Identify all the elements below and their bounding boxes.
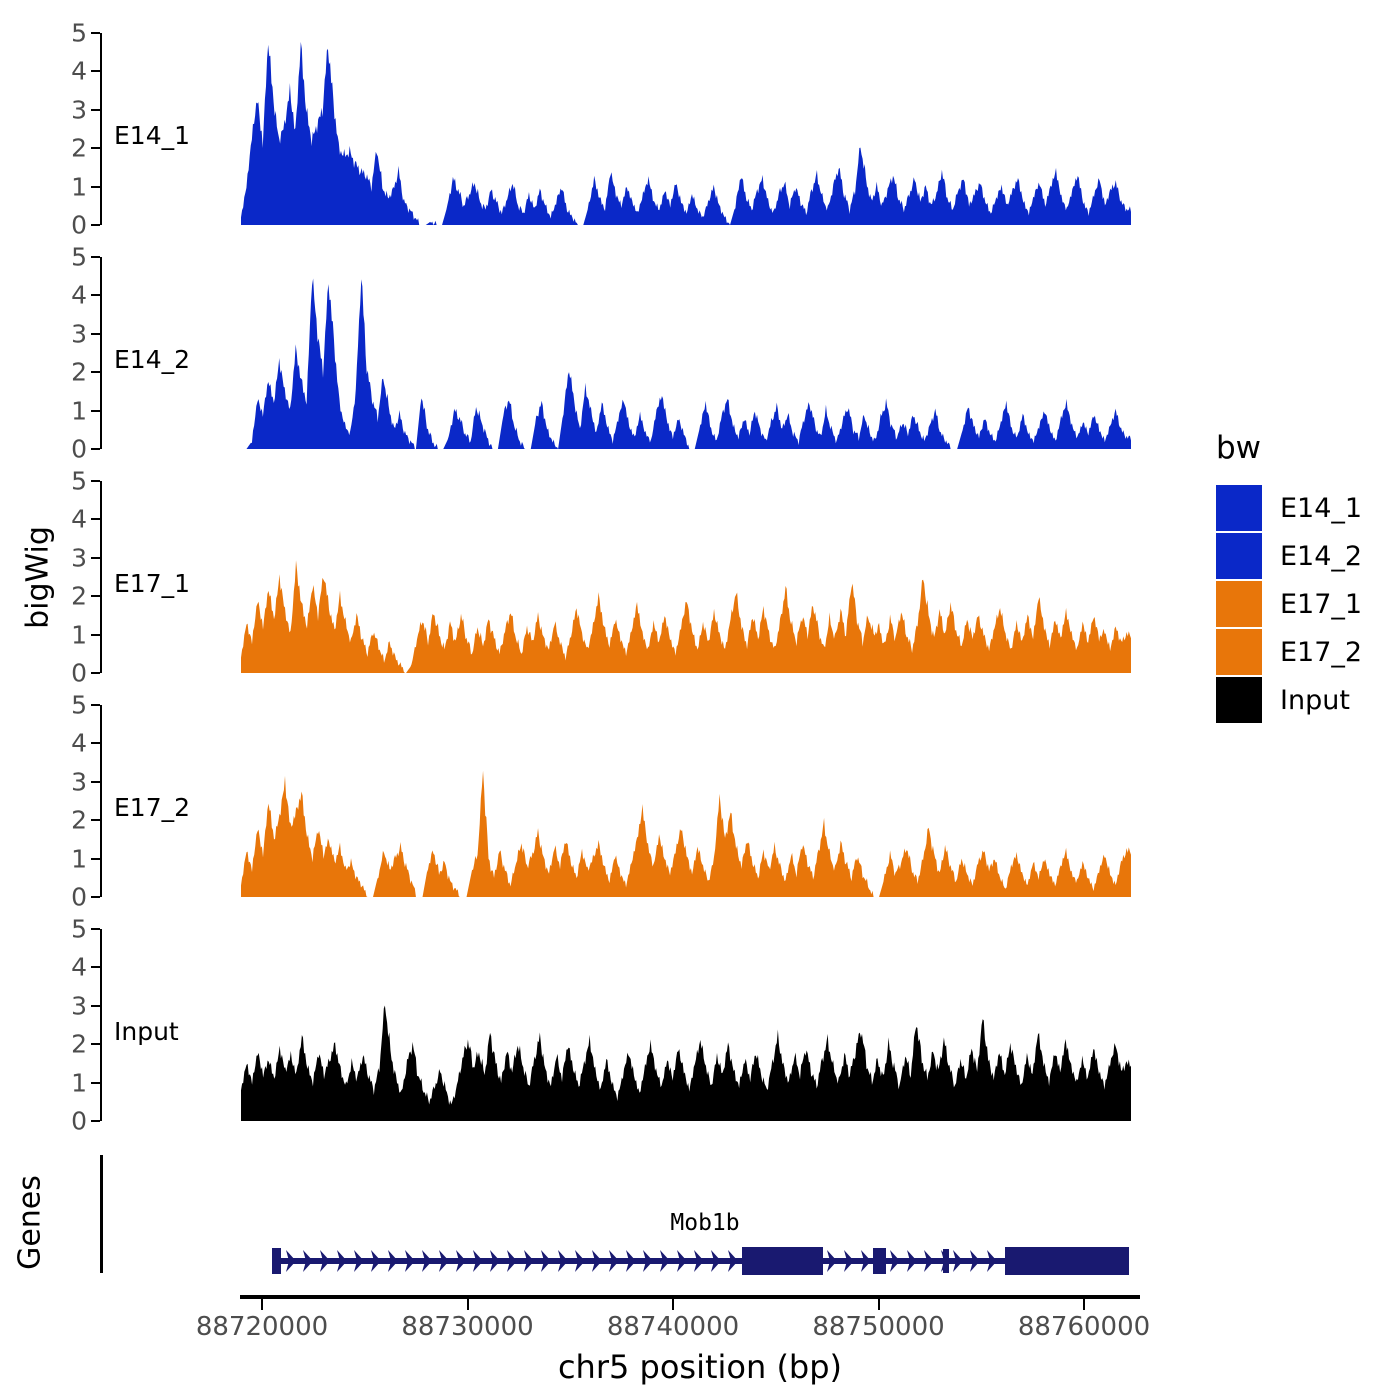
- x-axis-title: chr5 position (bp): [0, 1348, 1400, 1386]
- legend-label: E14_1: [1280, 493, 1362, 524]
- gene-label: Mob1b: [670, 1210, 739, 1236]
- y-tick: [91, 819, 100, 821]
- x-axis-line: [240, 1295, 1140, 1299]
- y-tick: [91, 480, 100, 482]
- legend-title: bw: [1216, 430, 1362, 466]
- y-tick-label: 4: [71, 507, 87, 532]
- y-tick: [91, 410, 100, 412]
- legend-item-e14_1[interactable]: E14_1: [1216, 484, 1362, 532]
- legend-item-input[interactable]: Input: [1216, 676, 1362, 724]
- legend-item-e17_1[interactable]: E17_1: [1216, 580, 1362, 628]
- y-tick: [91, 634, 100, 636]
- y-tick: [91, 224, 100, 226]
- y-tick: [91, 147, 100, 149]
- track-panel-e17_2: 012345E17_2: [100, 705, 1138, 897]
- y-tick: [91, 557, 100, 559]
- y-tick-label: 5: [71, 245, 87, 270]
- y-tick-label: 4: [71, 59, 87, 84]
- y-tick-label: 3: [71, 545, 87, 570]
- y-tick-label: 4: [71, 955, 87, 980]
- genes-axis-title: Genes: [13, 1133, 48, 1313]
- x-tick-label: 88740000: [607, 1312, 739, 1342]
- x-tick: [261, 1299, 263, 1310]
- y-tick-label: 0: [71, 885, 87, 910]
- y-tick: [91, 333, 100, 335]
- legend-items: E14_1E14_2E17_1E17_2Input: [1216, 484, 1362, 724]
- legend-swatch: [1216, 485, 1262, 531]
- y-tick: [91, 781, 100, 783]
- track-plot-area[interactable]: [102, 257, 1138, 449]
- track-panel-e17_1: 012345E17_1: [100, 481, 1138, 673]
- y-tick: [91, 1043, 100, 1045]
- y-tick-label: 5: [71, 21, 87, 46]
- legend-label: Input: [1280, 685, 1350, 716]
- legend-swatch: [1216, 533, 1262, 579]
- track-panel-input: 012345Input: [100, 929, 1138, 1121]
- y-tick: [91, 896, 100, 898]
- y-tick-label: 5: [71, 469, 87, 494]
- y-tick-label: 3: [71, 769, 87, 794]
- y-tick-label: 2: [71, 808, 87, 833]
- y-tick: [91, 448, 100, 450]
- x-tick-label: 88720000: [196, 1312, 328, 1342]
- y-tick: [91, 704, 100, 706]
- y-tick-label: 1: [71, 846, 87, 871]
- x-tick-label: 88730000: [401, 1312, 533, 1342]
- y-tick: [91, 858, 100, 860]
- track-panel-e14_2: 012345E14_2: [100, 257, 1138, 449]
- y-tick-label: 5: [71, 693, 87, 718]
- y-tick: [91, 1005, 100, 1007]
- legend-swatch: [1216, 581, 1262, 627]
- legend-label: E17_1: [1280, 589, 1362, 620]
- y-tick: [91, 294, 100, 296]
- genome-browser-figure: bigWig Genes 012345E14_1012345E14_201234…: [0, 0, 1400, 1400]
- x-tick: [1083, 1299, 1085, 1310]
- legend-swatch: [1216, 629, 1262, 675]
- genes-axis-line: [100, 1155, 103, 1273]
- y-tick: [91, 966, 100, 968]
- track-panel-e14_1: 012345E14_1: [100, 33, 1138, 225]
- y-tick-label: 5: [71, 917, 87, 942]
- track-plot-area[interactable]: [102, 33, 1138, 225]
- y-axis-title: bigWig: [21, 478, 56, 678]
- y-tick-label: 2: [71, 136, 87, 161]
- y-tick-label: 2: [71, 360, 87, 385]
- gene-model[interactable]: [100, 1155, 1138, 1295]
- track-plot-area[interactable]: [102, 481, 1138, 673]
- y-tick-label: 3: [71, 993, 87, 1018]
- x-tick-label: 88750000: [812, 1312, 944, 1342]
- x-tick: [672, 1299, 674, 1310]
- legend-swatch: [1216, 677, 1262, 723]
- y-tick: [91, 1120, 100, 1122]
- y-tick-label: 1: [71, 398, 87, 423]
- x-tick: [467, 1299, 469, 1310]
- legend: bw E14_1E14_2E17_1E17_2Input: [1216, 430, 1362, 724]
- y-tick-label: 4: [71, 283, 87, 308]
- y-tick: [91, 672, 100, 674]
- y-tick-label: 4: [71, 731, 87, 756]
- legend-item-e17_2[interactable]: E17_2: [1216, 628, 1362, 676]
- legend-label: E17_2: [1280, 637, 1362, 668]
- y-tick: [91, 518, 100, 520]
- y-tick-label: 3: [71, 97, 87, 122]
- legend-item-e14_2[interactable]: E14_2: [1216, 532, 1362, 580]
- y-tick-label: 0: [71, 661, 87, 686]
- legend-label: E14_2: [1280, 541, 1362, 572]
- y-tick-label: 3: [71, 321, 87, 346]
- y-tick: [91, 256, 100, 258]
- x-tick-label: 88760000: [1018, 1312, 1150, 1342]
- y-tick: [91, 371, 100, 373]
- y-tick-label: 0: [71, 1109, 87, 1134]
- x-tick: [878, 1299, 880, 1310]
- y-tick: [91, 186, 100, 188]
- track-plot-area[interactable]: [102, 929, 1138, 1121]
- y-tick-label: 1: [71, 622, 87, 647]
- y-tick-label: 0: [71, 213, 87, 238]
- y-tick: [91, 928, 100, 930]
- genes-panel: Mob1b: [100, 1155, 1138, 1295]
- y-tick-label: 2: [71, 584, 87, 609]
- y-tick: [91, 70, 100, 72]
- track-plot-area[interactable]: [102, 705, 1138, 897]
- y-tick: [91, 32, 100, 34]
- y-tick-label: 1: [71, 174, 87, 199]
- y-tick-label: 0: [71, 437, 87, 462]
- y-tick-label: 1: [71, 1070, 87, 1095]
- y-tick: [91, 742, 100, 744]
- y-tick: [91, 595, 100, 597]
- y-tick-label: 2: [71, 1032, 87, 1057]
- y-tick: [91, 1082, 100, 1084]
- y-tick: [91, 109, 100, 111]
